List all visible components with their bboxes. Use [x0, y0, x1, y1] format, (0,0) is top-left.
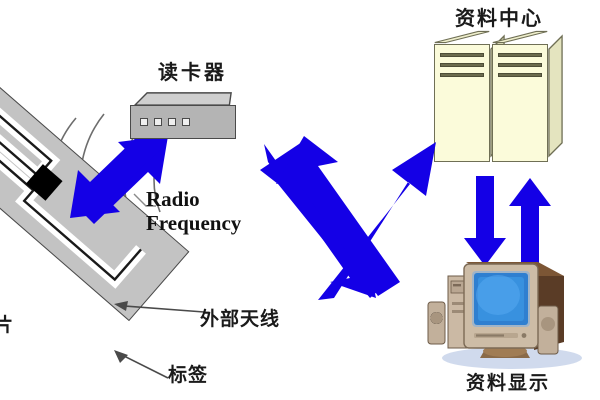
radio-frequency-label: Radio Frequency — [146, 188, 241, 235]
rfid-system-diagram: 资料中心 读卡器 资料显示 外部天线 标签 片 Radio Frequency — [0, 0, 600, 400]
server-rack-icon — [432, 30, 562, 170]
server-slot — [498, 53, 542, 57]
radio-frequency-line-2: Frequency — [146, 212, 241, 236]
reader-led-2 — [154, 118, 162, 126]
data-display-label: 资料显示 — [466, 368, 550, 395]
server-side-face-2 — [548, 30, 563, 162]
arrow-link-down — [258, 126, 438, 302]
server-cabinet-1 — [434, 44, 490, 162]
reader-led-4 — [182, 118, 190, 126]
server-slot — [498, 73, 542, 77]
desktop-computer-icon — [426, 250, 586, 370]
card-reader-label: 读卡器 — [158, 56, 227, 85]
external-antenna-label: 外部天线 — [200, 304, 280, 331]
reader-led-1 — [140, 118, 148, 126]
server-top-face-1 — [434, 29, 490, 45]
server-slot — [440, 73, 484, 77]
chip-label: 片 — [0, 310, 14, 337]
server-slots-1 — [440, 53, 484, 83]
server-top-face-2 — [492, 29, 548, 45]
server-slot — [440, 63, 484, 67]
server-slots-2 — [498, 53, 542, 83]
server-slot — [440, 53, 484, 57]
datacenter-title: 资料中心 — [455, 2, 543, 31]
leader-line-tag — [112, 348, 172, 384]
radio-frequency-line-1: Radio — [146, 188, 241, 212]
leader-line-antenna — [112, 300, 208, 320]
server-cabinet-2 — [492, 44, 548, 162]
reader-led-row — [140, 118, 190, 126]
server-slot — [498, 63, 542, 67]
card-reader-icon — [126, 92, 240, 140]
reader-led-3 — [168, 118, 176, 126]
reader-top-face — [126, 92, 240, 106]
tag-label: 标签 — [168, 360, 208, 387]
